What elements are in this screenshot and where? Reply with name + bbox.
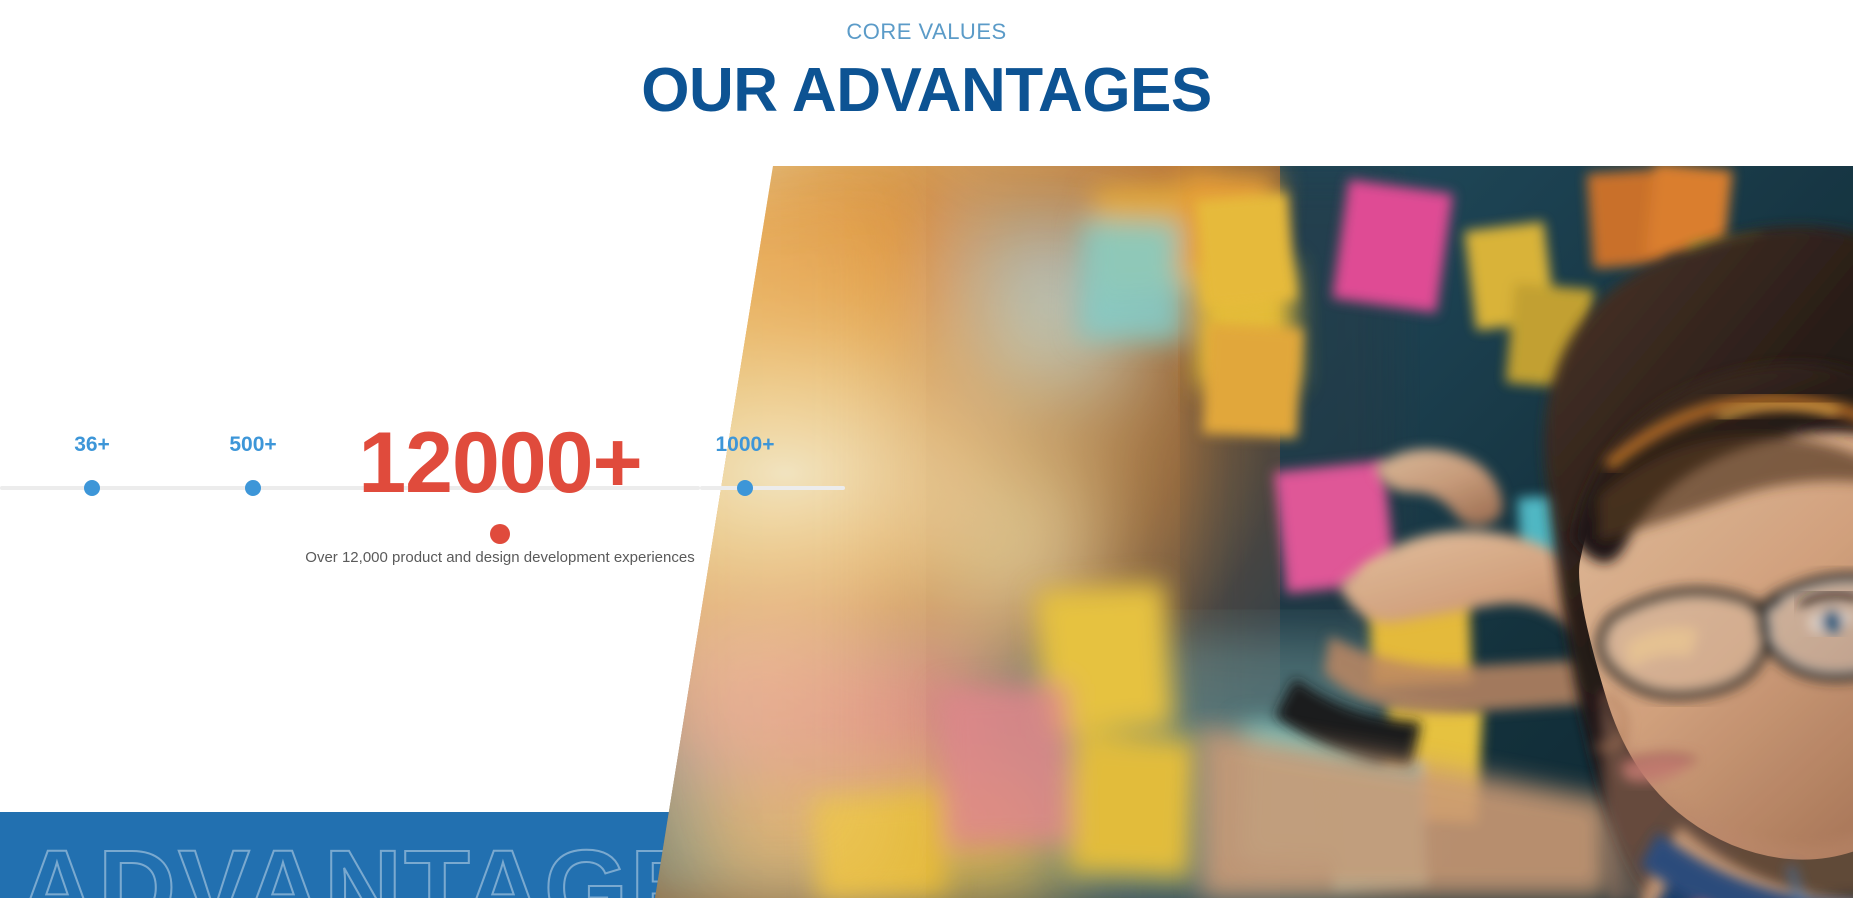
page-title: OUR ADVANTAGES bbox=[0, 55, 1853, 126]
highlight-figure: 12000+ bbox=[358, 420, 641, 506]
highlight-dot bbox=[490, 524, 510, 544]
section-eyebrow: CORE VALUES bbox=[0, 19, 1853, 45]
advantages-section: CORE VALUES OUR ADVANTAGES ADVANTAGES bbox=[0, 0, 1853, 898]
milestone-dot bbox=[245, 480, 261, 496]
highlight-caption: Over 12,000 product and design developme… bbox=[305, 549, 694, 566]
advantages-photo bbox=[640, 166, 1853, 898]
timeline-track-left bbox=[0, 486, 700, 490]
milestone-dot bbox=[84, 480, 100, 496]
milestone-label: 500+ bbox=[229, 433, 276, 457]
photo-illustration bbox=[640, 166, 1853, 898]
milestone-label: 36+ bbox=[74, 433, 110, 457]
